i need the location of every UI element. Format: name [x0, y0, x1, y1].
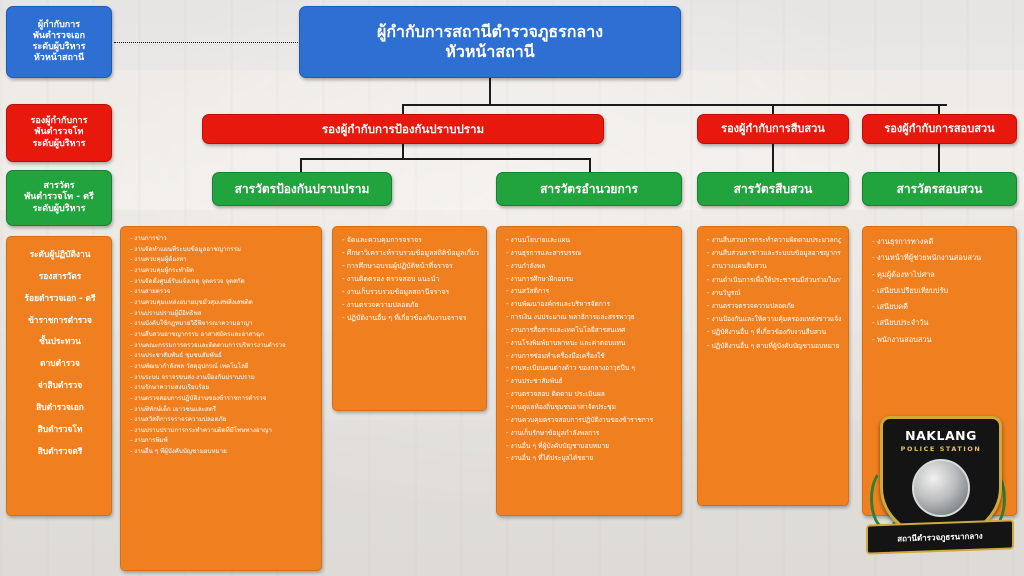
rank-box-1: ผู้กำกับการ พันตำรวจเอก ระดับผู้บริหาร ห… [6, 6, 112, 78]
list-item: - การศึกษาอบรมผู้ปฏิบัติหน้าที่จราจร [342, 260, 479, 273]
list-item: - งานตรวจตรวจความปลอดภัย [707, 300, 841, 313]
rank-box-1-line-1: ผู้กำกับการ [38, 20, 80, 31]
badge-ribbon-text: สถานีตำรวจภูธรนากลาง [866, 519, 1014, 554]
deputy-investigation: รองผู้กำกับการสืบสวน [697, 114, 849, 144]
list-item: ชั้นประทวน [16, 331, 104, 353]
org-chart-canvas: ผู้กำกับการ พันตำรวจเอก ระดับผู้บริหาร ห… [0, 0, 1024, 576]
list-item: - งานอื่น ๆ ที่ได้ประมูลได้ขยาย [506, 452, 674, 465]
list-item: - งานธุรการและสารบรรณ [506, 247, 674, 260]
list-item: - ศึกษาวิเคราะห์รวบรวมข้อมูลสถิติข้อมูลเ… [342, 247, 479, 260]
list-item: - งานควบคุมแหล่งอบายมุขมั่วสุมเสพสิ่งเสพ… [130, 298, 314, 309]
list-item: - งานธุรการทางคดี [872, 234, 1009, 250]
list-item: - งานการศึกษาฝึกอบรม [506, 273, 674, 286]
list-item: - งานจัดตั้งศูนย์รับแจ้งเหตุ จุดตรวจ จุด… [130, 277, 314, 288]
inspector-prevention-label: สารวัตรป้องกันปราบปราม [235, 182, 370, 197]
list-item: - งานติดตรอง ตรวจสอบ แนะนำ [342, 273, 479, 286]
list-item: - งานวิบูรณ์ [707, 287, 841, 300]
list-item: - งานปราบปรามการกระทำความผิดที่มีโทษทางอ… [130, 426, 314, 437]
list-item: - งานโรงพิมพ์ยานพาหนะ และค่าตอบแทน [506, 337, 674, 350]
rank-box-1-line-4: หัวหน้าสถานี [34, 53, 84, 64]
list-item: - งานการข่าว [130, 234, 314, 245]
list-item: ดาบตำรวจ [16, 353, 104, 375]
rank-box-3: สารวัตร พันตำรวจโท - ตรี ระดับผู้บริหาร [6, 170, 112, 226]
list-item: ร้อยตำรวจเอก - ตรี [16, 288, 104, 310]
list-item: - งานสวัสดิการ [506, 285, 674, 298]
list-item: - งานการสื่อสารและเทคโนโลยีสารสนเทศ [506, 324, 674, 337]
list-item: - เสนียบเปรียบเทียบปรับ [872, 283, 1009, 299]
list-item: - งานปราบปรามผู้มีอิทธิพล [130, 309, 314, 320]
list-item: - ปฏิบัติงานอื่น ๆ ตามที่ผู้บังคับบัญชาม… [707, 340, 841, 353]
list-item: - เสนียบคดี [872, 299, 1009, 315]
list-item: สิบตำรวจเอก [16, 397, 104, 419]
rank-box-2-line-3: ระดับผู้บริหาร [33, 139, 86, 150]
list-item: - งานสวัสดิการจราจรความปลอดภัย [130, 415, 314, 426]
list-item: - งานเก็บรวบรวมข้อมูลสถานีจราจร [342, 286, 479, 299]
connector-prevention-down [402, 142, 404, 158]
list-item: สิบตำรวจตรี [16, 441, 104, 463]
list-item: รองสารวัตร [16, 266, 104, 288]
list-item: - การเงิน งบประมาณ พลาธิการและสรรพาวุธ [506, 311, 674, 324]
rank-box-2-line-1: รองผู้กำกับการ [31, 116, 88, 127]
badge-top-text: NAKLANG [883, 428, 999, 443]
list-item: - งานทะเบียนคนต่างด้าว ของกลางอาวุธปืน ๆ [506, 362, 674, 375]
list-item: - งานพิทักษ์เด็ก เยาวชนและสตรี [130, 405, 314, 416]
rank-box-1-line-3: ระดับผู้บริหาร [33, 42, 86, 53]
list-item: - งานควบคุมตรวจสอบการปฏิบัติงานของข้าราช… [506, 414, 674, 427]
list-item: สิบตำรวจโท [16, 419, 104, 441]
inspector-admin: สารวัตรอำนวยการ [496, 172, 682, 206]
connector-dotted-title [114, 42, 300, 43]
list-item: - งานควบคุมผู้ต้องหา [130, 255, 314, 266]
list-item: - งานสายตรวจ [130, 287, 314, 298]
list-item: - งานบังคับใช้กฎหมายวิธีพิจารณาความอาญา [130, 319, 314, 330]
list-item: - งานตรวจสอบการปฏิบัติงานของข้าราชการตำร… [130, 394, 314, 405]
list-item: - งานควบคุมผู้กระทำผิด [130, 266, 314, 277]
duties-investigation: - งานสืบสวนการกระทำความผิดตามประมวลกฎหมา… [697, 226, 849, 506]
page-title-line-2: หัวหน้าสถานี [445, 42, 534, 62]
inspector-inquiry: สารวัตรสอบสวน [862, 172, 1017, 206]
list-item: - งานคณะกรรมการตรวจและติดตามการบริหารงาน… [130, 341, 314, 352]
list-item: ระดับผู้ปฏิบัติงาน [16, 244, 104, 266]
connector-inspector-inquiry [938, 142, 940, 172]
list-item: - ปฏิบัติงานอื่น ๆ ที่เกี่ยวข้องกับงานสื… [707, 326, 841, 339]
list-item: - งานสืบสวนการกระทำความผิดตามประมวลกฎหมา… [707, 234, 841, 247]
list-item: - งานพัฒนากำลังพล วัสดุอุปกรณ์ เทคโนโลยี [130, 362, 314, 373]
list-item: - งานนโยบายและแผน [506, 234, 674, 247]
list-item: - ปฏิบัติงานอื่น ๆ ที่เกี่ยวข้องกับงานจร… [342, 312, 479, 325]
list-item: - งานประชาสัมพันธ์ [506, 375, 674, 388]
list-item: - งานระบบ จราจรขนส่ง งานป้องกันปราบปราม [130, 373, 314, 384]
badge-seal-icon [912, 459, 970, 517]
list-item: - งานหน้าที่ผู้ช่วยพนักงานสอบสวน [872, 250, 1009, 266]
list-item: - งานการพิมพ์ [130, 436, 314, 447]
deputy-inquiry-label: รองผู้กำกับการสอบสวน [884, 122, 994, 136]
deputy-investigation-label: รองผู้กำกับการสืบสวน [721, 122, 825, 136]
list-item: - งานเก็บรักษาข้อมูลกำลังพลการ [506, 427, 674, 440]
rank-box-2: รองผู้กำกับการ พันตำรวจโท ระดับผู้บริหาร [6, 104, 112, 162]
list-item: - งานวางแผนสืบสวน [707, 260, 841, 273]
connector-deputy-bus [402, 104, 947, 106]
list-item: - เสนียบประจำวัน [872, 315, 1009, 331]
list-item: - จัดและควบคุมการจราจร [342, 234, 479, 247]
list-item: - คุมผู้ต้องหาไปศาล [872, 267, 1009, 283]
list-item: - พนักงานสอบสวน [872, 332, 1009, 348]
list-item: - งานรักษาความสงบเรียบร้อย [130, 383, 314, 394]
list-item: - งานพัฒนาองค์กรและบริหารจัดการ [506, 298, 674, 311]
duties-prevention: - งานการข่าว- งานจัดทำแผนที่ระบบข้อมูลอา… [120, 226, 322, 571]
page-title: ผู้กำกับการสถานีตำรวจภูธรกลาง หัวหน้าสถา… [299, 6, 681, 78]
duties-traffic: - จัดและควบคุมการจราจร- ศึกษาวิเคราะห์รว… [332, 226, 487, 411]
rank-box-2-line-2: พันตำรวจโท [35, 127, 84, 138]
inspector-admin-label: สารวัตรอำนวยการ [540, 182, 638, 197]
deputy-inquiry: รองผู้กำกับการสอบสวน [862, 114, 1017, 144]
duties-admin: - งานนโยบายและแผน- งานธุรการและสารบรรณ- … [496, 226, 682, 516]
list-item: - งานประชาสัมพันธ์ ชุมชนสัมพันธ์ [130, 351, 314, 362]
list-item: - งานดำเนินการเพื่อให้ประชาชนมีส่วนร่วมใ… [707, 274, 841, 287]
connector-inspector-admin [589, 158, 591, 172]
deputy-prevention-label: รองผู้กำกับการป้องกันปราบปราม [322, 122, 484, 136]
inspector-investigation: สารวัตรสืบสวน [697, 172, 849, 206]
list-item: ข้าราชการตำรวจ [16, 310, 104, 332]
rank-box-3-line-3: ระดับผู้บริหาร [33, 204, 86, 215]
list-item: - งานจัดทำแผนที่ระบบข้อมูลอาชญากรรม [130, 245, 314, 256]
list-item: - งานอื่น ๆ ที่ผู้บังคับบัญชามอบหมาย [506, 440, 674, 453]
badge-sub-text: POLICE STATION [883, 445, 999, 453]
list-item: - งานสืบสวนหาข่าวและระบบบข้อมูลอาชญากรรม [707, 247, 841, 260]
list-item: - งานดูแลท้องถิ่นชุมชนอาสาจัดประชุม [506, 401, 674, 414]
rank-box-3-line-2: พันตำรวจโท - ตรี [24, 192, 94, 203]
naklang-police-badge: NAKLANG POLICE STATION สถานีตำรวจภูธรนาก… [862, 410, 1014, 562]
inspector-investigation-label: สารวัตรสืบสวน [734, 182, 813, 197]
list-item: - งานตรวจสอบ ติดตาม ประเมินผล [506, 388, 674, 401]
connector-inspector-investigation [772, 142, 774, 172]
rank-box-1-line-2: พันตำรวจเอก [33, 31, 85, 42]
list-item: - งานตรวจความปลอดภัย [342, 299, 479, 312]
inspector-inquiry-label: สารวัตรสอบสวน [897, 182, 983, 197]
deputy-prevention: รองผู้กำกับการป้องกันปราบปราม [202, 114, 604, 144]
page-title-line-1: ผู้กำกับการสถานีตำรวจภูธรกลาง [377, 22, 603, 42]
list-item: - งานสืบสวนอาชญากรรม อาสาสมัครและอาสาฉุก [130, 330, 314, 341]
list-item: - งานการซ่อมทำเครื่องมือเครื่องใช้ [506, 350, 674, 363]
list-item: - งานกำลังพล [506, 260, 674, 273]
list-item: - งานป้องกันและให้ความคุ้มครองแหล่งข่าวแ… [707, 313, 841, 326]
connector-title-down [489, 78, 491, 104]
operational-levels-box: ระดับผู้ปฏิบัติงาน รองสารวัตร ร้อยตำรวจเ… [6, 236, 112, 516]
list-item: จ่าสิบตำรวจ [16, 375, 104, 397]
rank-box-3-line-1: สารวัตร [43, 181, 74, 192]
inspector-prevention: สารวัตรป้องกันปราบปราม [212, 172, 392, 206]
list-item: - งานอื่น ๆ ที่ผู้บังคับบัญชามอบหมาย [130, 447, 314, 458]
connector-inspector-prevention [300, 158, 302, 172]
connector-inspector-bus [300, 158, 590, 160]
